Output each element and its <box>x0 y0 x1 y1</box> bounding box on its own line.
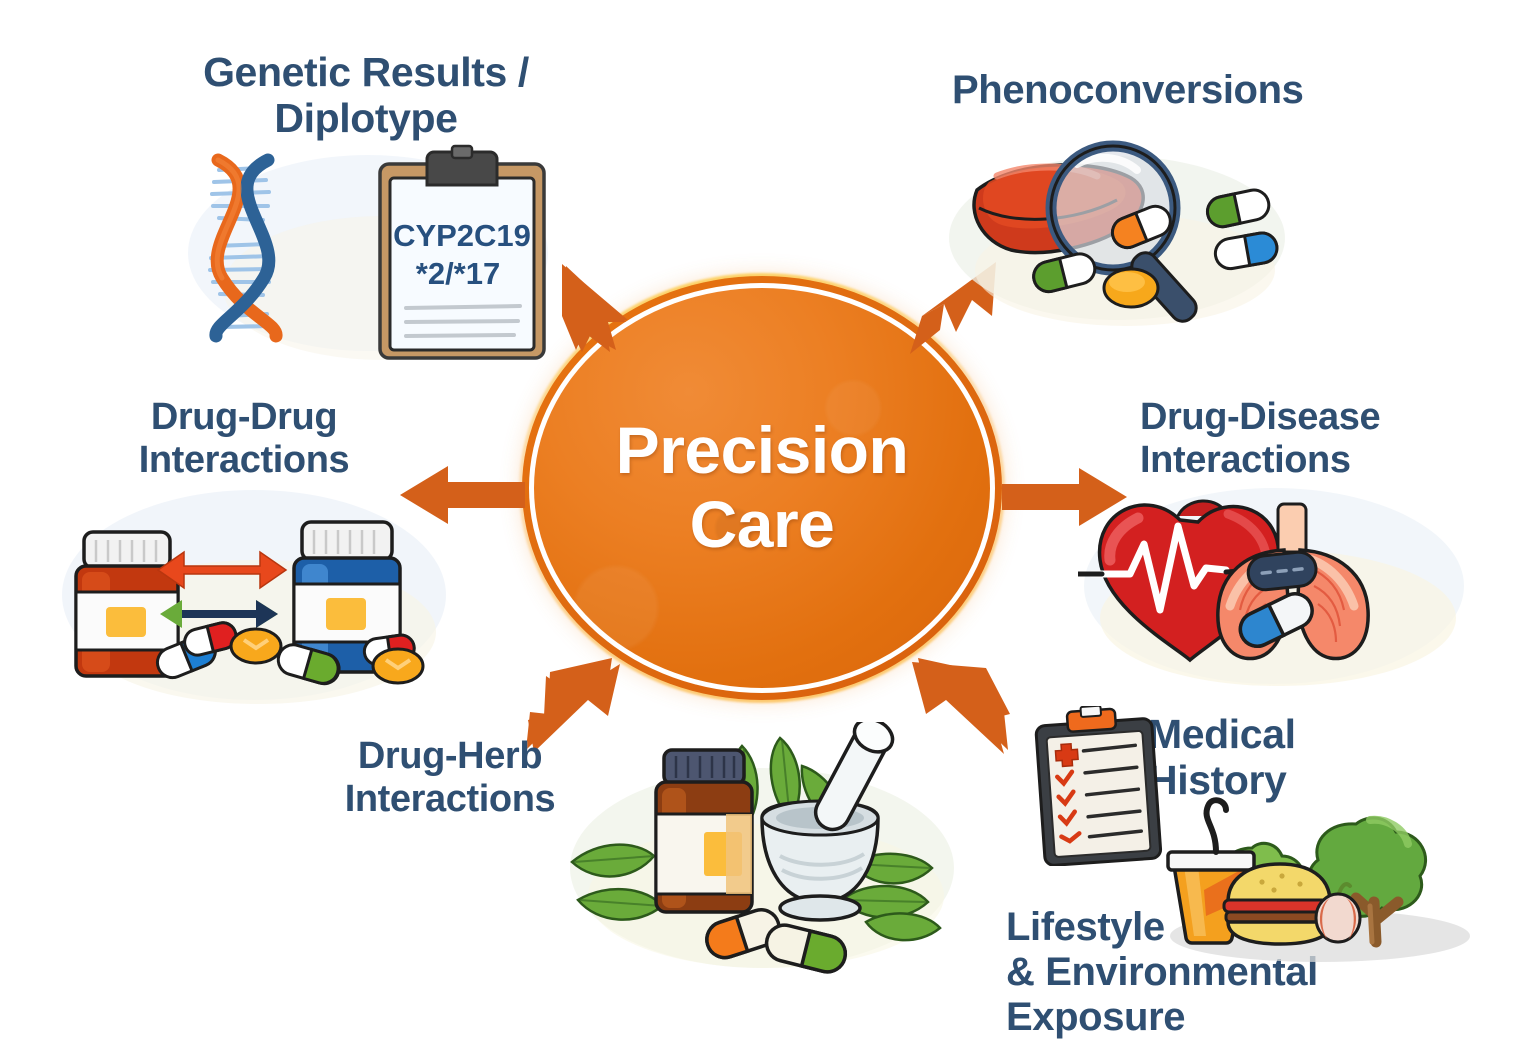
center-title-line1: Precision <box>616 413 909 487</box>
clipboard-diplotype-text: *2/*17 <box>416 256 500 291</box>
clipboard-gene-text: CYP2C19 <box>393 218 531 253</box>
label-drug-herb-interactions: Drug-Herb Interactions <box>340 735 560 820</box>
clipboard-icon: CYP2C19 *2/*17 <box>380 146 544 358</box>
center-title: Precision Care <box>616 414 909 562</box>
center-title-line2: Care <box>690 487 835 561</box>
medical-history-icon <box>1028 706 1168 866</box>
lifestyle-environment-icon <box>1160 790 1480 970</box>
genetic-results-icon: CYP2C19 *2/*17 <box>178 128 578 368</box>
dark-capsule-icon <box>1247 551 1318 592</box>
drug-disease-interactions-icon <box>1078 478 1478 693</box>
drug-drug-interactions-icon <box>58 480 458 710</box>
amber-pill-bottle-icon <box>656 750 752 912</box>
phenoconversions-icon <box>945 130 1295 330</box>
diagram-canvas: Precision Care Genetic Results / Diploty… <box>0 0 1536 1024</box>
label-drug-disease-interactions: Drug-Disease Interactions <box>1140 396 1390 481</box>
drug-herb-interactions-icon <box>566 722 966 987</box>
label-drug-drug-interactions: Drug-Drug Interactions <box>124 396 364 481</box>
burger-icon <box>1224 864 1334 944</box>
label-phenoconversions: Phenoconversions <box>952 68 1302 113</box>
